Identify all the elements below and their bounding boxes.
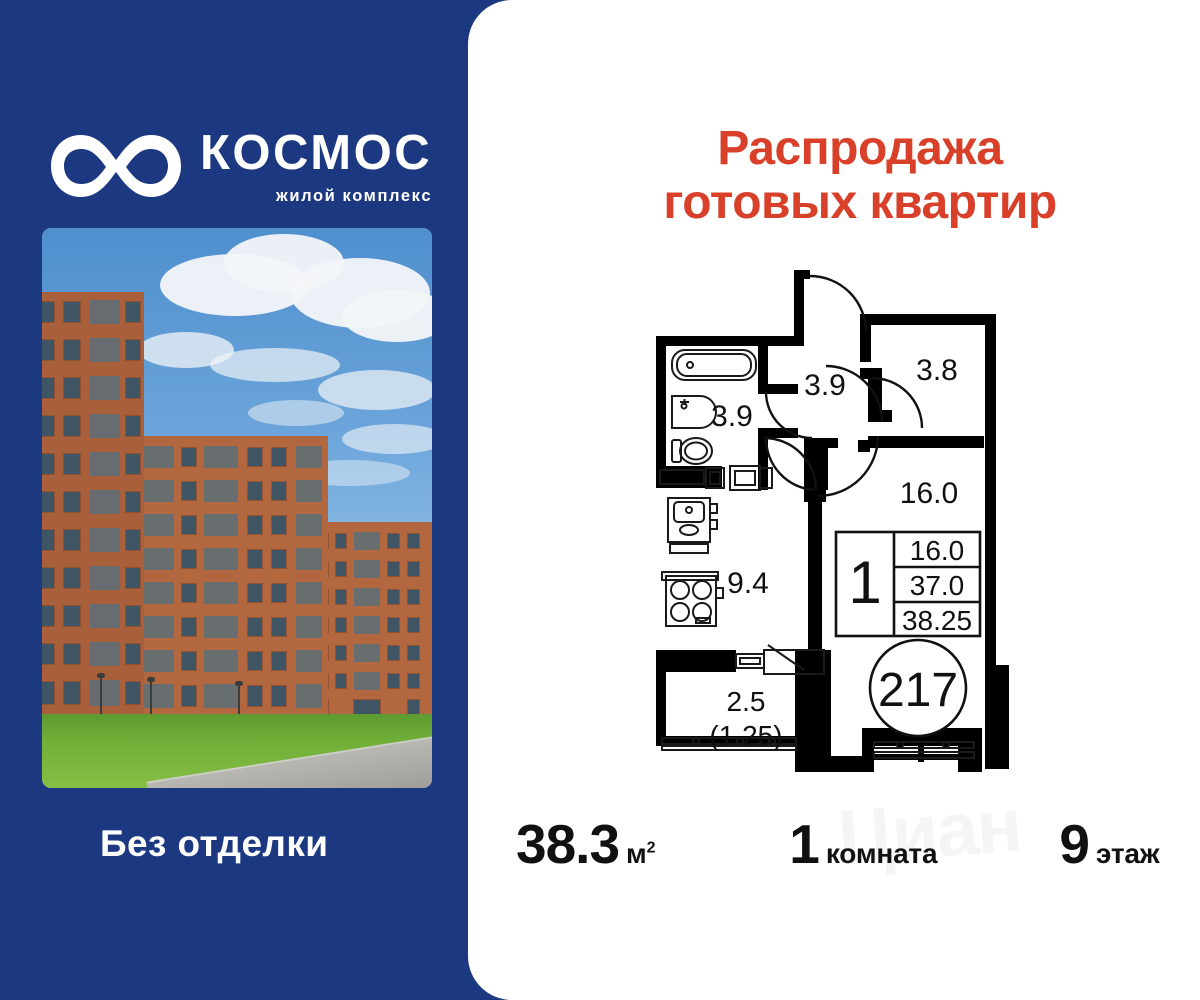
headline-line-1: Распродажа <box>560 122 1160 176</box>
stat-rooms-unit: комната <box>826 838 937 870</box>
stat-floor-unit: этаж <box>1096 838 1159 870</box>
advertisement-card: КОСМОС жилой комплекс <box>0 0 1200 1000</box>
room-area-kitchen: 9.4 <box>727 567 769 600</box>
brand-name: КОСМОС <box>200 129 432 178</box>
headline-line-2: готовых квартир <box>560 176 1160 230</box>
room-area-hallway: 3.9 <box>804 369 846 402</box>
room-area-living: 16.0 <box>900 477 958 510</box>
stat-area: 38.3 м2 <box>516 812 655 876</box>
info-rooms-count: 1 <box>848 549 881 616</box>
stat-rooms: 1 комната <box>789 812 937 876</box>
room-area-balcony-counted: (1.25) <box>709 720 782 751</box>
room-area-storage: 3.8 <box>916 354 958 387</box>
stat-area-value: 38.3 <box>516 812 619 876</box>
info-total-area: 37.0 <box>910 570 965 601</box>
room-area-balcony: 2.5 <box>727 686 766 717</box>
apartment-info-table: 1 16.0 37.0 38.25 <box>836 532 980 636</box>
apartment-number-badge: 217 <box>870 640 966 736</box>
residential-complex-photo <box>42 228 432 788</box>
apartment-summary: 38.3 м2 1 комната 9 этаж <box>500 812 1180 892</box>
promo-headline: Распродажа готовых квартир <box>560 122 1160 230</box>
stat-area-unit: м2 <box>626 838 655 870</box>
brand-logo: КОСМОС жилой комплекс <box>48 118 448 213</box>
stat-rooms-value: 1 <box>789 812 819 876</box>
info-total-with-balcony: 38.25 <box>902 605 972 636</box>
apartment-number: 217 <box>878 664 958 717</box>
stat-floor-value: 9 <box>1059 812 1089 876</box>
room-area-bathroom: 3.9 <box>711 400 753 433</box>
building-near <box>42 292 144 722</box>
building-far <box>310 522 432 722</box>
infinity-icon <box>48 129 184 203</box>
finish-type-caption: Без отделки <box>100 823 328 865</box>
stat-floor: 9 этаж <box>1059 812 1159 876</box>
floor-plan-drawing: 3.9 3.9 3.8 16.0 9.4 2.5 (1.25) 1 16.0 3… <box>640 250 1020 802</box>
info-living-area: 16.0 <box>910 535 965 566</box>
building-middle <box>138 436 328 722</box>
floor-plan: 3.9 3.9 3.8 16.0 9.4 2.5 (1.25) 1 16.0 3… <box>640 250 1020 802</box>
brand-tagline: жилой комплекс <box>200 188 432 205</box>
